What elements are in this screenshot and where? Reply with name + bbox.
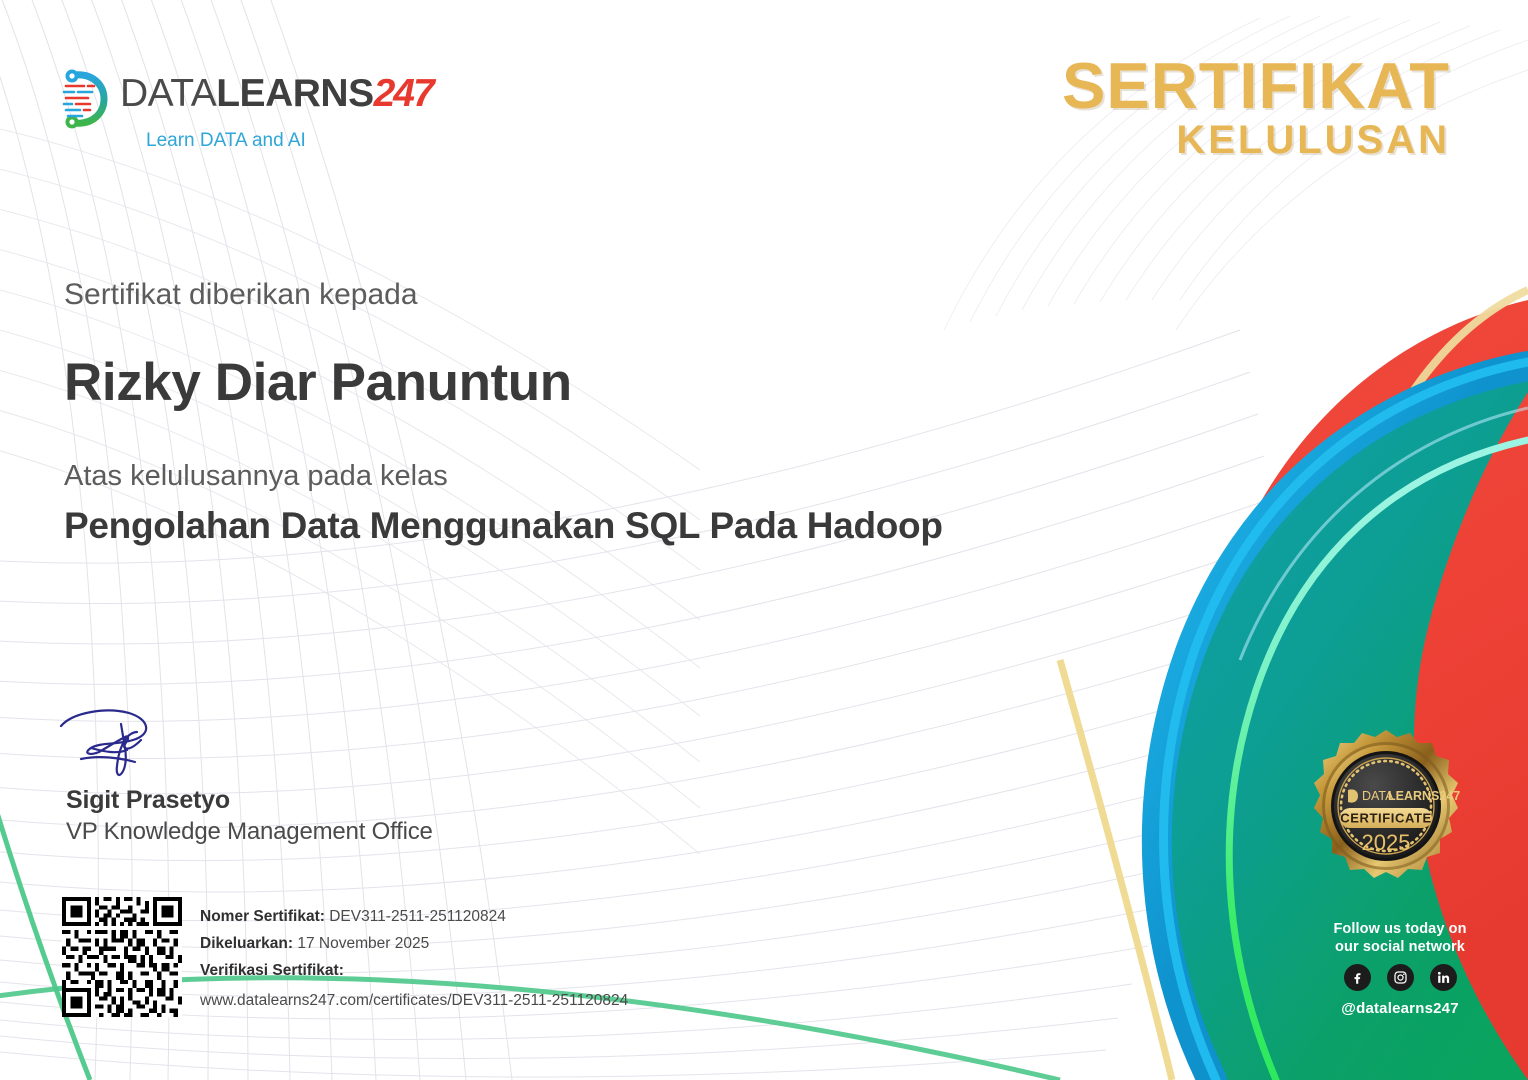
- awarded-to-label: Sertifikat diberikan kepada: [64, 278, 418, 312]
- seal-brand-learns: LEARNS247: [1388, 789, 1460, 803]
- handwritten-signature-icon: [55, 704, 245, 794]
- issued-date-row: Dikeluarkan: 17 November 2025: [200, 930, 628, 957]
- verification-url[interactable]: www.datalearns247.com/certificates/DEV31…: [200, 987, 628, 1014]
- seal-certificate-label: CERTIFICATE: [1340, 811, 1432, 826]
- certificate-canvas: DATALEARNS247 Learn DATA and AI SERTIFIK…: [0, 0, 1528, 1080]
- social-handle[interactable]: @datalearns247: [1300, 1000, 1500, 1017]
- social-icon-row: [1300, 964, 1500, 991]
- certificate-number-value: DEV311-2511-251120824: [329, 908, 506, 925]
- header-title: SERTIFIKAT: [1062, 52, 1450, 120]
- issued-date-value: 17 November 2025: [297, 935, 429, 952]
- certificate-seal-badge: DATA LEARNS247 CERTIFICATE 2025: [1300, 728, 1472, 900]
- verification-row: Verifikasi Sertifikat:: [200, 957, 628, 984]
- certificate-header: SERTIFIKAT KELULUSAN: [1062, 52, 1450, 162]
- certificate-number-row: Nomer Sertifikat: DEV311-2511-251120824: [200, 903, 628, 930]
- course-label: Atas kelulusannya pada kelas: [64, 460, 448, 493]
- course-title: Pengolahan Data Menggunakan SQL Pada Had…: [64, 505, 943, 547]
- logo-word-247: 247: [374, 72, 433, 115]
- instagram-icon[interactable]: [1387, 964, 1414, 991]
- verification-label: Verifikasi Sertifikat:: [200, 962, 344, 979]
- qr-code-icon: [62, 897, 182, 1017]
- facebook-icon[interactable]: [1344, 964, 1371, 991]
- social-line-2: our social network: [1300, 938, 1500, 956]
- signer-title: VP Knowledge Management Office: [66, 818, 433, 846]
- certificate-number-label: Nomer Sertifikat:: [200, 908, 325, 925]
- issued-date-label: Dikeluarkan:: [200, 935, 293, 952]
- signer-name: Sigit Prasetyo: [66, 786, 230, 815]
- datalearns-d-mark-icon: [58, 68, 110, 130]
- linkedin-icon[interactable]: [1430, 964, 1457, 991]
- logo-word-learns: LEARNS: [216, 72, 373, 115]
- header-subtitle: KELULUSAN: [1062, 118, 1450, 162]
- logo-word-data: DATA: [120, 72, 216, 115]
- brand-tagline: Learn DATA and AI: [146, 130, 306, 152]
- social-line-1: Follow us today on: [1300, 920, 1500, 938]
- seal-year: 2025: [1362, 830, 1411, 855]
- recipient-name: Rizky Diar Panuntun: [64, 352, 572, 413]
- certificate-details: Nomer Sertifikat: DEV311-2511-251120824 …: [200, 903, 628, 1014]
- brand-wordmark: DATALEARNS247: [120, 74, 433, 114]
- brand-logo: DATALEARNS247 Learn DATA and AI: [58, 68, 388, 160]
- social-block: Follow us today on our social network: [1300, 920, 1500, 1017]
